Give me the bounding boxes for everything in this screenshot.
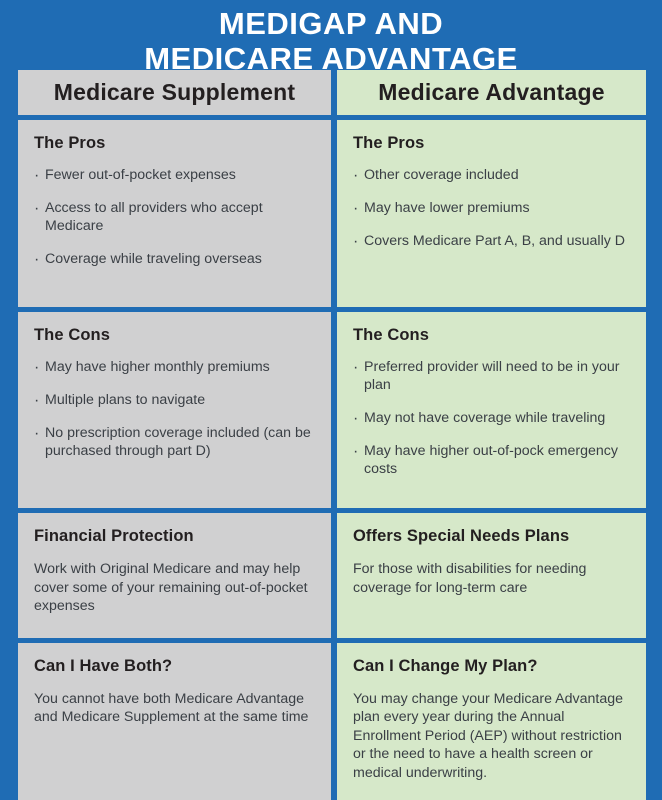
- column-medicare-supplement: Medicare Supplement The Pros Fewer out-o…: [18, 70, 331, 800]
- list-item: May not have coverage while traveling: [353, 410, 630, 428]
- list-item: Fewer out-of-pocket expenses: [34, 167, 315, 185]
- cell-right-pros: The Pros Other coverage included May hav…: [337, 120, 646, 307]
- cell-title: Offers Special Needs Plans: [353, 527, 630, 546]
- list-item: May have lower premiums: [353, 200, 630, 218]
- poster-title: MEDIGAP AND MEDICARE ADVANTAGE: [0, 0, 662, 77]
- cell-right-cons: The Cons Preferred provider will need to…: [337, 312, 646, 508]
- cell-right-can-i-change-my-plan: Can I Change My Plan? You may change you…: [337, 643, 646, 800]
- cell-title: The Pros: [353, 134, 630, 153]
- column-header-label: Medicare Advantage: [378, 79, 604, 106]
- cell-title: Can I Change My Plan?: [353, 657, 630, 676]
- cell-title: The Cons: [353, 326, 630, 345]
- column-header-label: Medicare Supplement: [54, 79, 296, 106]
- bullet-list: May have higher monthly premiums Multipl…: [34, 359, 315, 461]
- cell-title: Can I Have Both?: [34, 657, 315, 676]
- cell-right-special-needs-plans: Offers Special Needs Plans For those wit…: [337, 513, 646, 638]
- cell-left-can-i-have-both: Can I Have Both? You cannot have both Me…: [18, 643, 331, 800]
- list-item: No prescription coverage included (can b…: [34, 425, 315, 461]
- cell-left-financial-protection: Financial Protection Work with Original …: [18, 513, 331, 638]
- bullet-list: Fewer out-of-pocket expenses Access to a…: [34, 167, 315, 269]
- column-medicare-advantage: Medicare Advantage The Pros Other covera…: [337, 70, 646, 800]
- list-item: Covers Medicare Part A, B, and usually D: [353, 233, 630, 251]
- cell-title: The Pros: [34, 134, 315, 153]
- title-line-1: MEDIGAP AND: [0, 6, 662, 41]
- cell-title: Financial Protection: [34, 527, 315, 546]
- cell-title: The Cons: [34, 326, 315, 345]
- list-item: Multiple plans to navigate: [34, 392, 315, 410]
- cell-left-cons: The Cons May have higher monthly premium…: [18, 312, 331, 508]
- cell-body: You may change your Medicare Advantage p…: [353, 690, 630, 782]
- bullet-list: Preferred provider will need to be in yo…: [353, 359, 630, 478]
- column-header-medicare-advantage: Medicare Advantage: [337, 70, 646, 115]
- cell-body: Work with Original Medicare and may help…: [34, 560, 315, 615]
- list-item: Other coverage included: [353, 167, 630, 185]
- list-item: May have higher monthly premiums: [34, 359, 315, 377]
- infographic-poster: MEDIGAP AND MEDICARE ADVANTAGE Medicare …: [0, 0, 662, 800]
- column-header-medicare-supplement: Medicare Supplement: [18, 70, 331, 115]
- bullet-list: Other coverage included May have lower p…: [353, 167, 630, 251]
- list-item: Coverage while traveling overseas: [34, 251, 315, 269]
- list-item: Access to all providers who accept Medic…: [34, 200, 315, 236]
- list-item: May have higher out-of-pock emergency co…: [353, 443, 630, 479]
- cell-body: You cannot have both Medicare Advantage …: [34, 690, 315, 727]
- list-item: Preferred provider will need to be in yo…: [353, 359, 630, 395]
- cell-left-pros: The Pros Fewer out-of-pocket expenses Ac…: [18, 120, 331, 307]
- cell-body: For those with disabilities for needing …: [353, 560, 630, 597]
- comparison-table: Medicare Supplement The Pros Fewer out-o…: [18, 70, 645, 800]
